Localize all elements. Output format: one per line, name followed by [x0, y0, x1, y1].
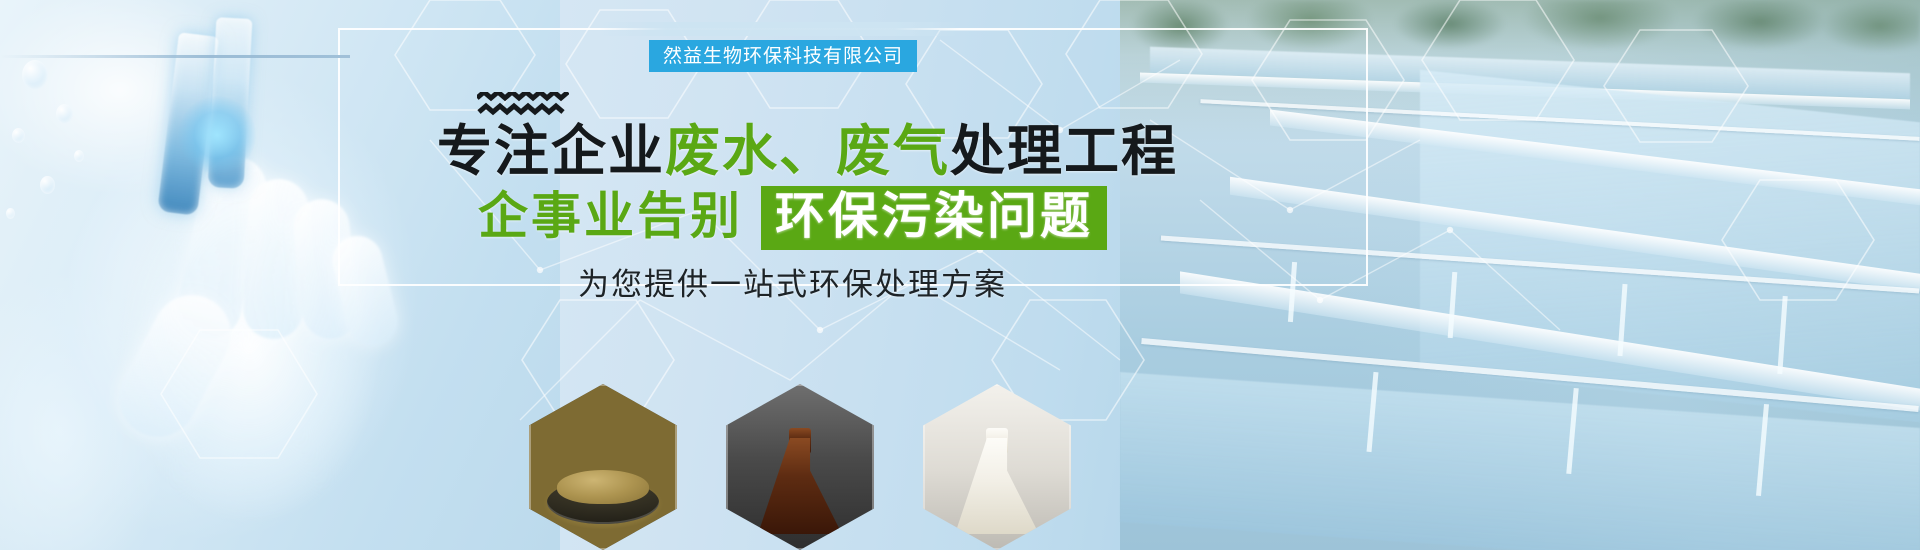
product-hexagon-white-flask [923, 384, 1071, 550]
tube-glow [178, 96, 256, 174]
hexagon-border [726, 384, 874, 550]
subtitle-text: 为您提供一站式环保处理方案 [578, 266, 1007, 304]
company-name-badge: 然益生物环保科技有限公司 [649, 40, 917, 72]
headline-part-wastegas: 废气 [836, 119, 950, 183]
hexagon-border [923, 384, 1071, 550]
water-droplet [40, 176, 55, 194]
water-droplet [22, 60, 48, 90]
headline2-lead: 企事业告别 [478, 187, 743, 245]
headline-line-1: 专注企业废水、废气处理工程 [437, 122, 1197, 180]
headline-part-wastewater: 废水、 [665, 119, 836, 183]
water-droplet [12, 128, 25, 143]
product-hexagon-brown-flask [726, 384, 874, 550]
frame-left-connector-line [0, 55, 350, 58]
water-droplet [56, 104, 73, 124]
frame-top-gap [600, 22, 960, 36]
hero-banner: 然益生物环保科技有限公司 专注企业废水、废气处理工程 企事业告别环保污染问题 为… [0, 0, 1920, 550]
headline2-highlight-box: 环保污染问题 [761, 186, 1107, 250]
headline-part-treatment: 处理工程 [950, 119, 1178, 183]
wave-lines-icon [477, 92, 569, 118]
product-hexagon-powder [529, 384, 677, 550]
water-droplet [6, 208, 15, 219]
headline-line-2: 企事业告别环保污染问题 [478, 186, 1107, 250]
headline-part-focus: 专注企业 [437, 119, 665, 183]
water-droplet [74, 150, 84, 162]
hexagon-border [529, 384, 677, 550]
